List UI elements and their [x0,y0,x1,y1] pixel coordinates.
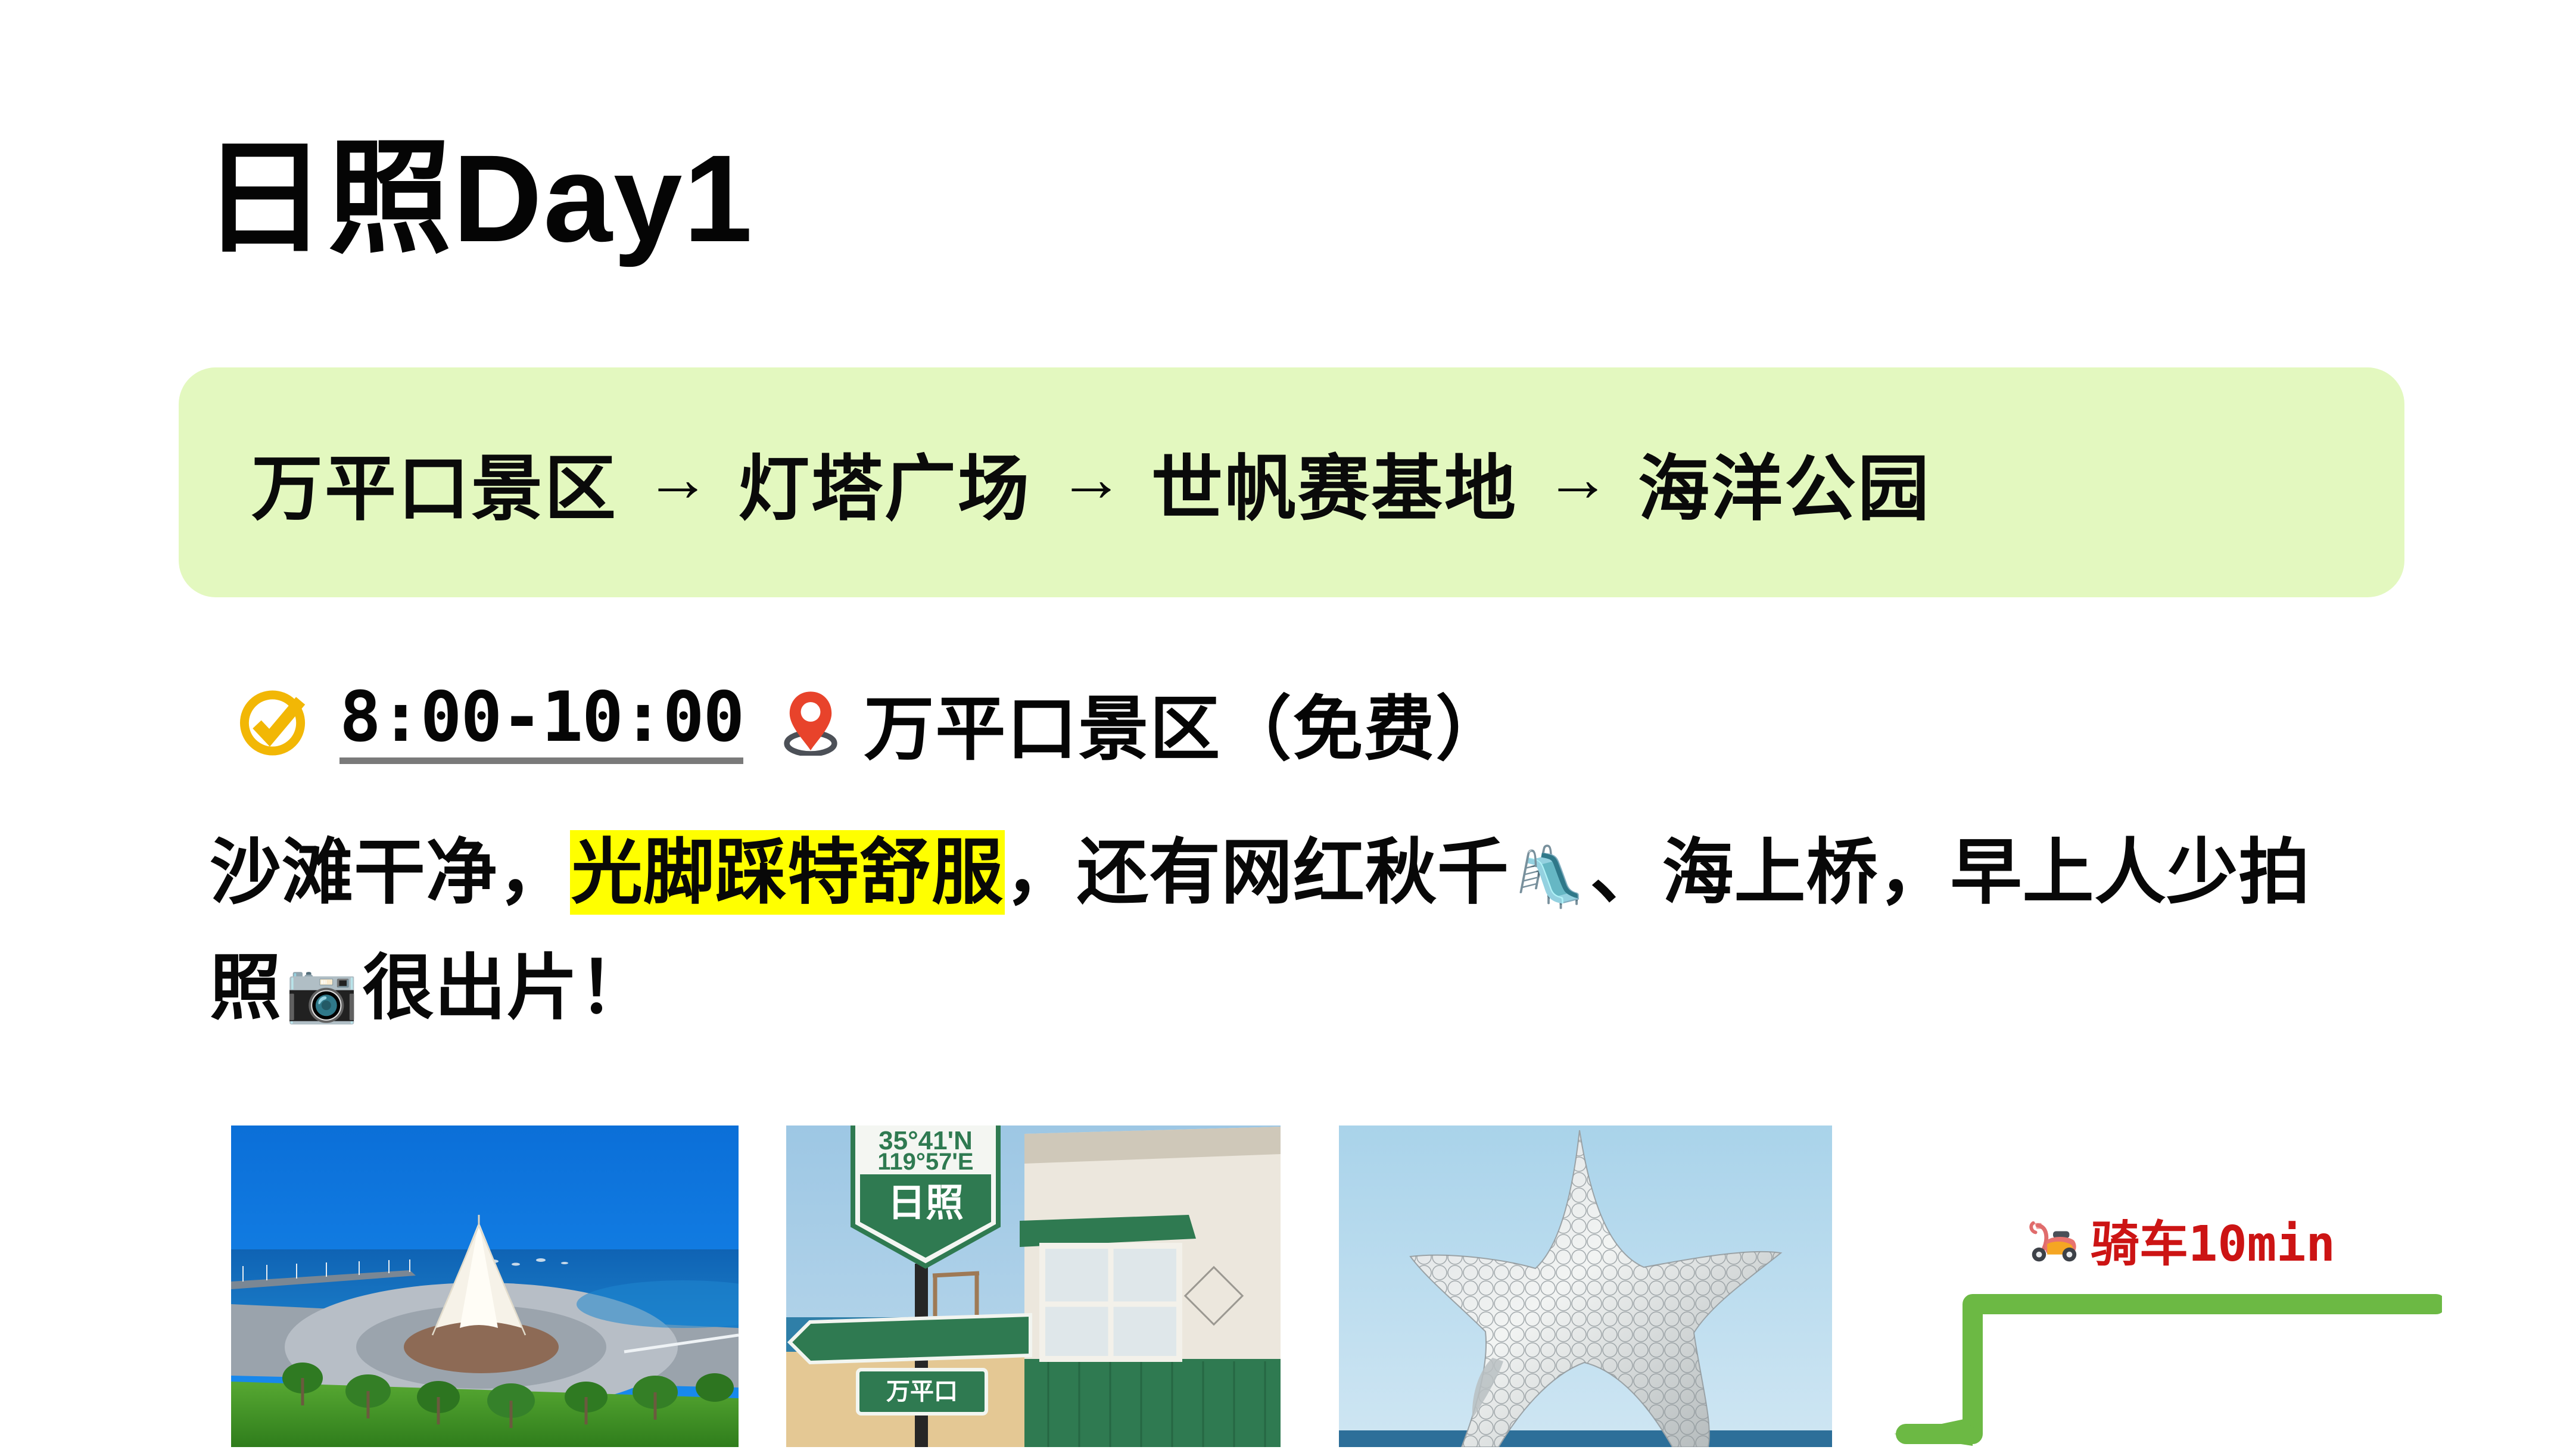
description-part-1: 沙滩干净， [210,833,570,912]
transfer-duration-label: 骑车10min [2091,1204,2335,1275]
route-stop-1[interactable]: 万平口景区 [251,431,618,534]
sign-direction-label: 万平口 [886,1379,958,1405]
transfer-note: 骑车10min [2024,1204,2335,1275]
activity-place: 万平口景区（免费） [864,672,1507,774]
activity-time: 8:00-10:00 [339,681,743,764]
scooter-icon [2024,1216,2082,1264]
route-stop-4[interactable]: 海洋公园 [1638,431,1931,534]
photo-starfish-sculpture[interactable] [1339,1125,1832,1447]
location-pin-icon [783,686,839,760]
transfer-arrow-icon [1840,1280,2442,1453]
check-circle-icon [237,686,311,760]
photo-wanpingkou-plaza-aerial[interactable] [231,1125,739,1447]
camera-emoji-icon: 📷 [282,959,363,1027]
page-title: 日照Day1 [203,134,753,264]
route-arrow-icon-1: → [618,446,738,512]
description-part-4: 很出片！ [363,948,651,1028]
sign-longitude: 119°57'E [877,1149,973,1175]
route-arrow-icon-2: → [1031,446,1151,512]
sign-city-name: 日照 [887,1181,964,1224]
activity-description: 沙滩干净，光脚踩特舒服，还有网红秋千🛝、海上桥，早上人少拍照📷很出片！ [210,815,2318,1046]
route-banner: 万平口景区 → 灯塔广场 → 世帆赛基地 → 海洋公园 [179,367,2404,597]
photo-rizhao-coordinate-signpost[interactable]: 35°41'N 119°57'E 日照 万平口 [786,1125,1281,1447]
route-stop-3[interactable]: 世帆赛基地 [1151,431,1518,534]
swing-emoji-icon: 🛝 [1509,843,1590,911]
description-highlight: 光脚踩特舒服 [570,830,1005,915]
route-arrow-icon-3: → [1518,446,1638,512]
description-part-2: ，还有网红秋千 [1005,833,1509,912]
route-stop-list: 万平口景区 → 灯塔广场 → 世帆赛基地 → 海洋公园 [179,431,1931,534]
route-stop-2[interactable]: 灯塔广场 [738,431,1031,534]
schedule-row: 8:00-10:00 万平口景区（免费） [237,672,1507,774]
